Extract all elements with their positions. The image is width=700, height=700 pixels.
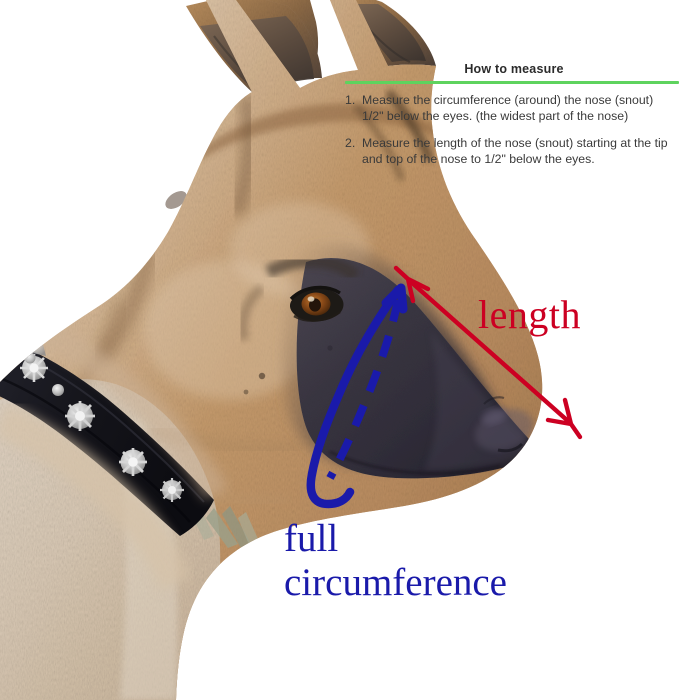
step-text: Measure the length of the nose (snout) s… bbox=[362, 136, 675, 167]
instruction-step: 2. Measure the length of the nose (snout… bbox=[345, 136, 683, 167]
instructions-divider bbox=[345, 81, 679, 84]
step-number: 2. bbox=[345, 136, 362, 167]
instruction-step: 1. Measure the circumference (around) th… bbox=[345, 93, 683, 124]
circumference-label-line1: full bbox=[284, 517, 507, 561]
circumference-label: full circumference bbox=[284, 517, 507, 605]
step-text: Measure the circumference (around) the n… bbox=[362, 93, 675, 124]
measurement-guide-image: How to measure 1. Measure the circumfere… bbox=[0, 0, 700, 700]
instructions-step-list: 1. Measure the circumference (around) th… bbox=[345, 93, 683, 167]
length-label: length bbox=[478, 291, 581, 338]
step-number: 1. bbox=[345, 93, 362, 124]
circumference-label-line2: circumference bbox=[284, 561, 507, 605]
instructions-title: How to measure bbox=[345, 62, 683, 77]
instructions-panel: How to measure 1. Measure the circumfere… bbox=[345, 62, 683, 179]
